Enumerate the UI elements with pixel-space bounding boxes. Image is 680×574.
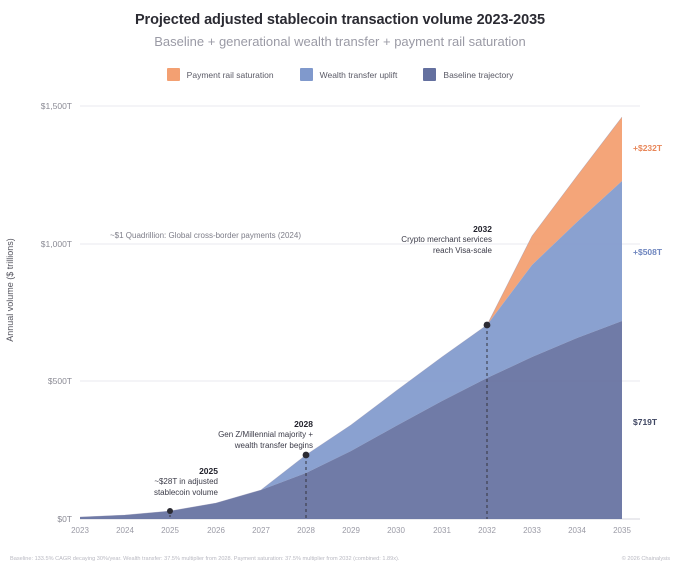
annotation-year: 2025: [100, 466, 218, 477]
annotation-line-1: Crypto merchant services: [401, 235, 492, 244]
chart-footnote: Baseline: 133.5% CAGR decaying 30%/year.…: [10, 556, 399, 562]
chart-page: Projected adjusted stablecoin transactio…: [0, 0, 680, 574]
chart-credit: © 2026 Chainalysis: [622, 556, 670, 562]
edge-label-baseline-trajectory: $719T: [633, 417, 657, 427]
annotation-year: 2032: [362, 224, 492, 235]
marker-2032-dot: [484, 322, 491, 329]
marker-2028-dot: [303, 452, 310, 459]
annotation-line-1: Gen Z/Millennial majority +: [218, 430, 313, 439]
annotation-milestone-2025: 2025 ~$28T in adjusted stablecoin volume: [100, 466, 218, 499]
annotation-line-1: ~$28T in adjusted: [154, 477, 218, 486]
annotation-milestone-2032: 2032 Crypto merchant services reach Visa…: [362, 224, 492, 257]
annotation-line-2: stablecoin volume: [154, 488, 218, 497]
annotation-milestone-2028: 2028 Gen Z/Millennial majority + wealth …: [168, 419, 313, 452]
edge-label-wealth-transfer-uplift: +$508T: [633, 247, 662, 257]
annotation-line-2: wealth transfer begins: [235, 441, 313, 450]
marker-2025-dot: [167, 508, 173, 514]
annotation-text: ~$1 Quadrillion: Global cross-border pay…: [110, 231, 301, 240]
edge-label-payment-rail-saturation: +$232T: [633, 143, 662, 153]
annotation-year: 2028: [168, 419, 313, 430]
annotation-quadrillion-note: ~$1 Quadrillion: Global cross-border pay…: [110, 231, 301, 242]
annotation-line-2: reach Visa-scale: [433, 246, 492, 255]
